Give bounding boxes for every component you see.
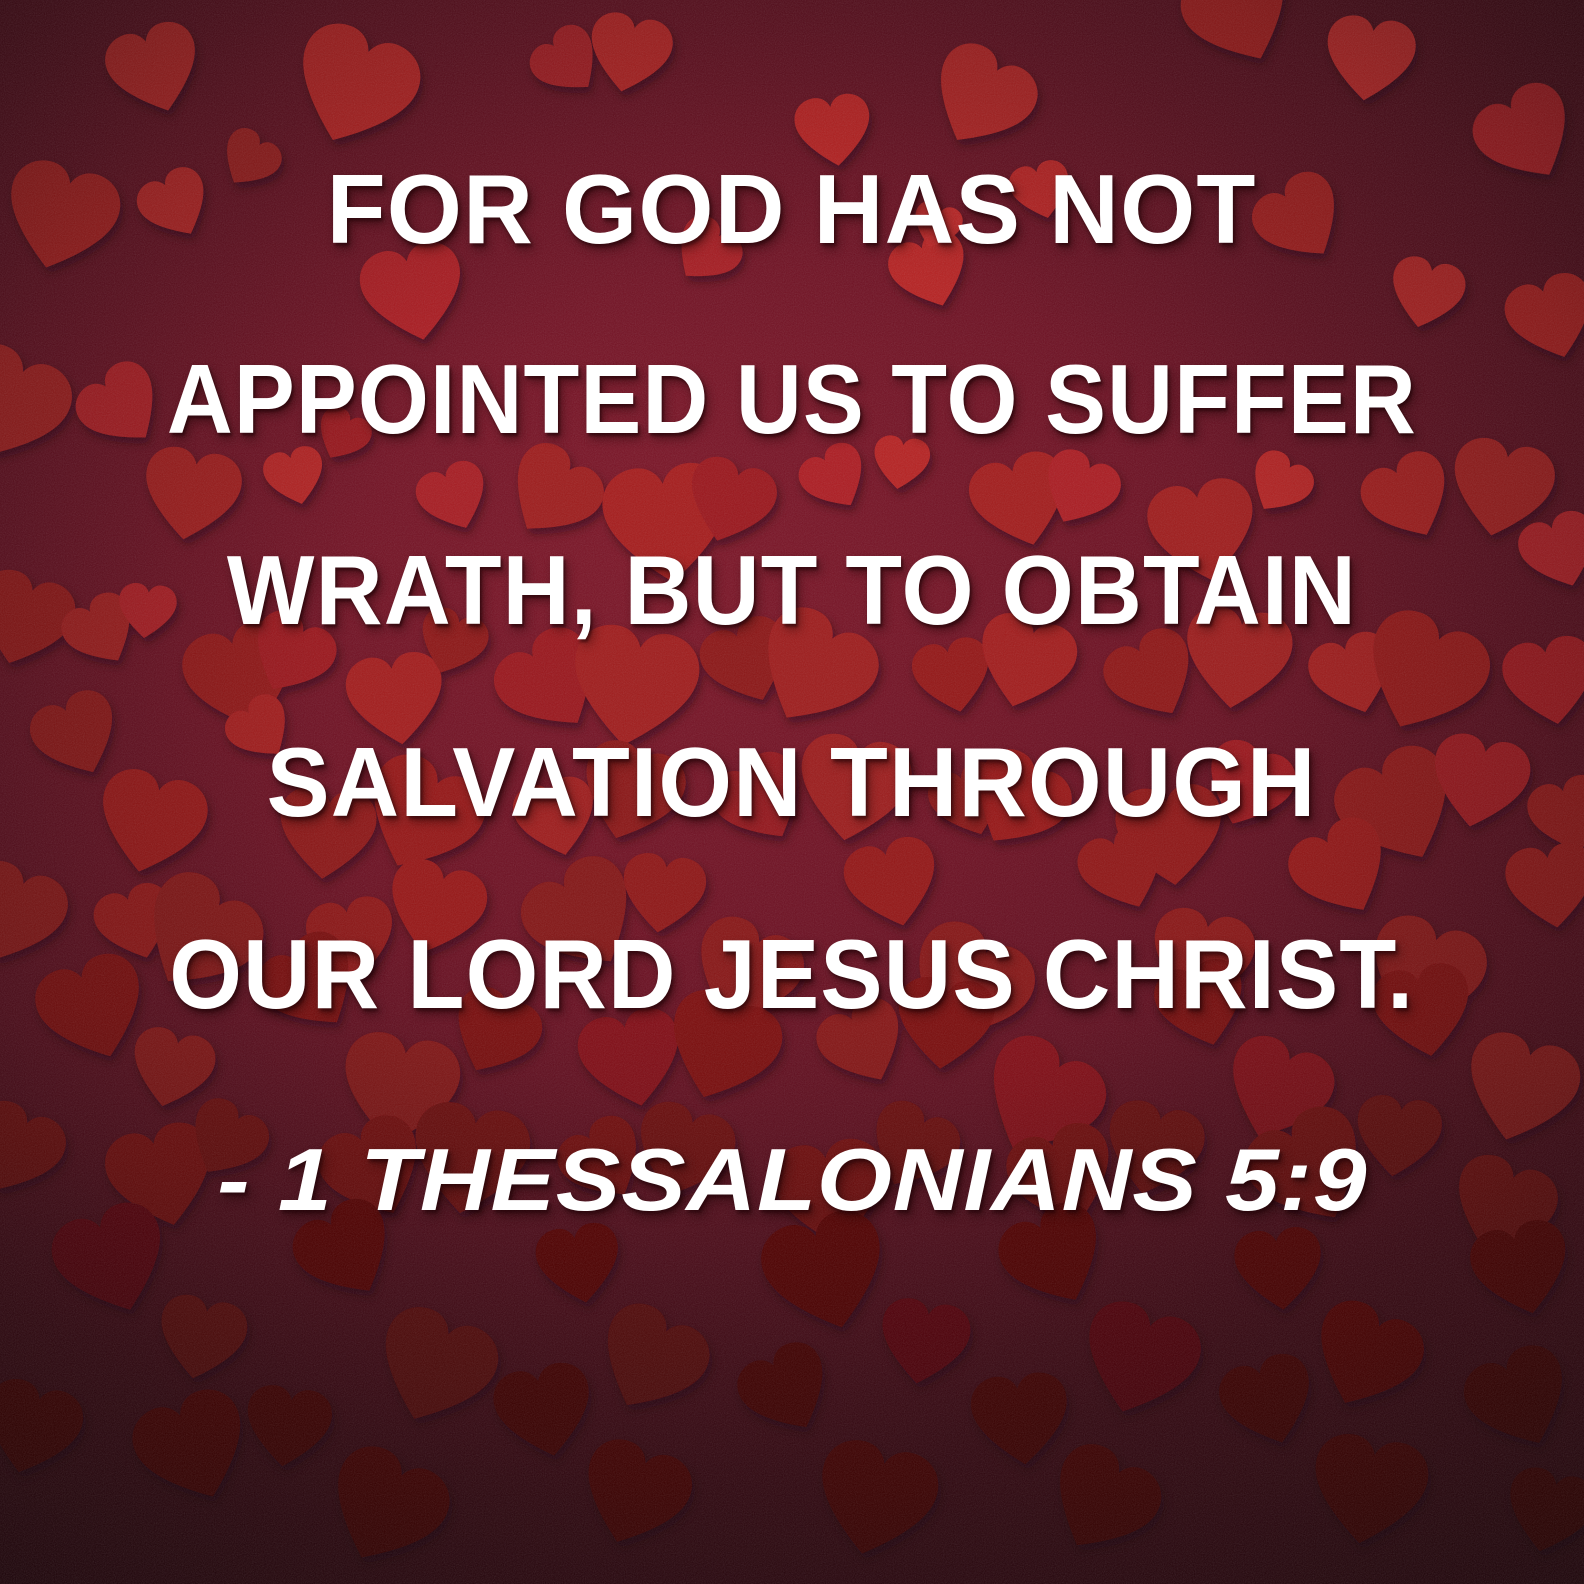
verse-line-3-text: WRATH, BUT TO OBTAIN [227,541,1357,639]
verse-text-block: FOR GOD HAS NOT APPOINTED US TO SUFFER W… [0,0,1584,1584]
verse-line-5-text: OUR LORD JESUS CHRIST. [169,925,1414,1023]
verse-line-4-text: SALVATION THROUGH [267,733,1317,831]
verse-line-1-text: FOR GOD HAS NOT [327,160,1257,258]
verse-line-3: WRATH, BUT TO OBTAIN [0,541,1584,639]
verse-attribution-text: - 1 THESSALONIANS 5:9 [217,1136,1367,1224]
verse-line-2-text: APPOINTED US TO SUFFER [167,350,1417,448]
scripture-quote-image: FOR GOD HAS NOT APPOINTED US TO SUFFER W… [0,0,1584,1584]
verse-attribution: - 1 THESSALONIANS 5:9 [0,1136,1584,1224]
verse-line-5: OUR LORD JESUS CHRIST. [0,925,1584,1023]
verse-line-2: APPOINTED US TO SUFFER [0,350,1584,448]
verse-line-1: FOR GOD HAS NOT [0,160,1584,258]
verse-line-4: SALVATION THROUGH [0,733,1584,831]
